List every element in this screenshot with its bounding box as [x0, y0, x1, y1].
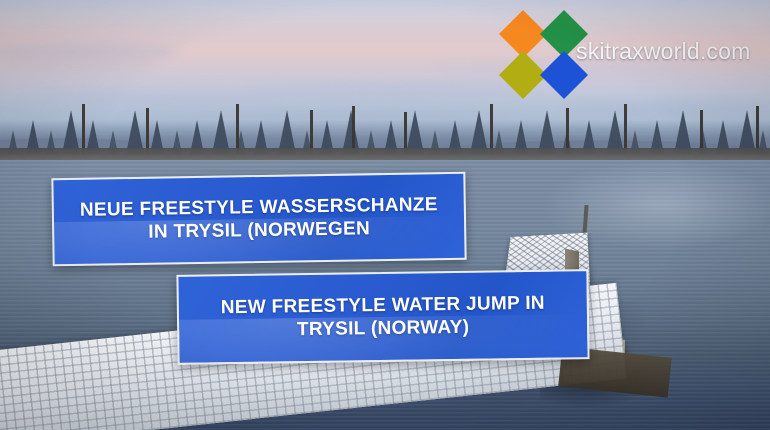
title-banner-german: NEUE FREESTYLE WASSERSCHANZE IN TRYSIL (… — [51, 172, 466, 266]
brand-text: skitraxworld.com — [576, 38, 750, 65]
banner-english-line2: TRYSIL (NORWAY) — [297, 317, 470, 340]
banner-german-line1: NEUE FREESTYLE WASSERSCHANZE — [80, 194, 438, 221]
screenshot-canvas: skitraxworld.com NEUE FREESTYLE WASSERSC… — [0, 0, 770, 430]
banner-english-line1: NEW FREESTYLE WATER JUMP IN — [221, 293, 545, 319]
banner-german-text: NEUE FREESTYLE WASSERSCHANZE IN TRYSIL (… — [70, 193, 449, 245]
banner-german-line2: IN TRYSIL (NORWEGEN — [148, 218, 370, 242]
title-banner-english: NEW FREESTYLE WATER JUMP IN TRYSIL (NORW… — [176, 269, 589, 365]
cloud — [240, 86, 540, 98]
site-logo[interactable]: skitraxworld.com — [500, 14, 764, 92]
banner-english-text: NEW FREESTYLE WATER JUMP IN TRYSIL (NORW… — [211, 291, 556, 342]
cloud — [0, 60, 150, 71]
